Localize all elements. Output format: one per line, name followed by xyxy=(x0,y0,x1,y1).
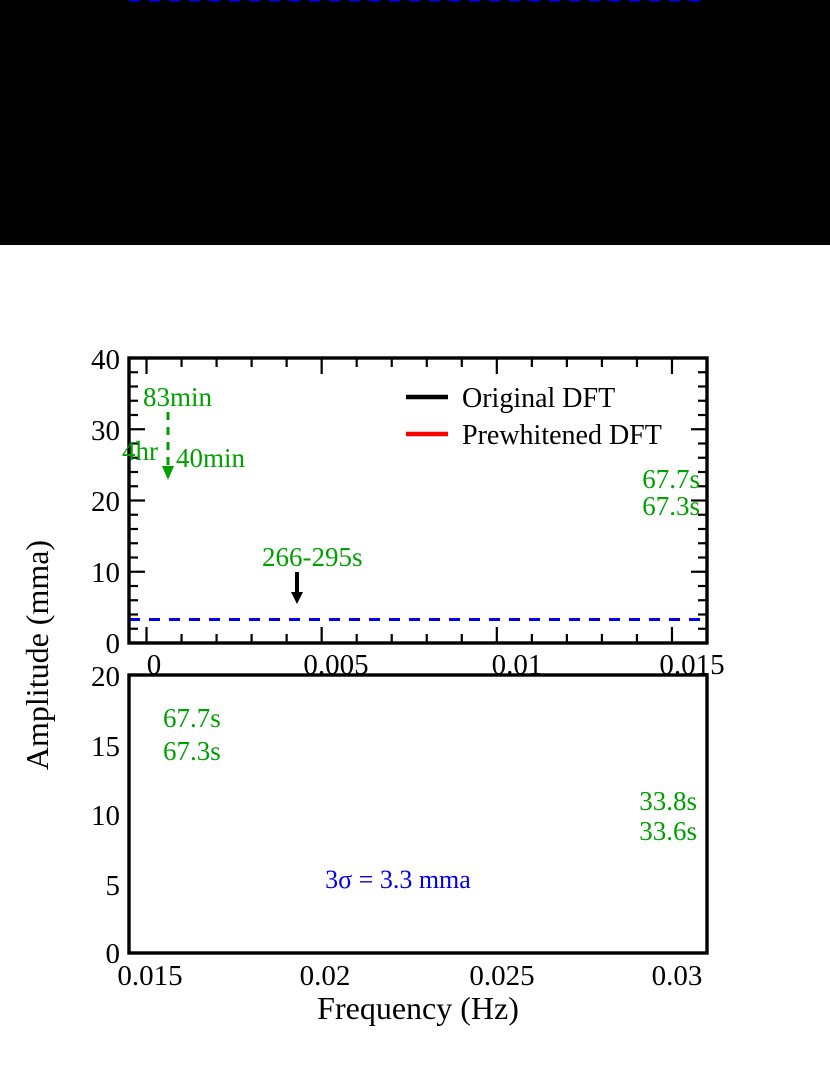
bottom-annotation-33p8s: 33.8s xyxy=(639,786,697,816)
threshold-label: 3σ = 3.3 mma xyxy=(325,865,471,894)
bottom-ytick-20: 20 xyxy=(91,661,120,693)
x-axis-label: Frequency (Hz) xyxy=(317,990,519,1026)
top-ytick-20: 20 xyxy=(91,486,120,518)
bottom-ytick-5: 5 xyxy=(106,870,121,902)
top-ytick-40: 40 xyxy=(91,344,120,376)
bottom-xtick-0p025: 0.025 xyxy=(469,960,534,992)
figure-canvas: 40 30 20 10 0 0 0.005 0.01 0.015 83min 4… xyxy=(0,0,830,1075)
annotation-40min: 40min xyxy=(176,443,246,473)
bottom-annotation-67p7s: 67.7s xyxy=(163,703,221,733)
bottom-ytick-10: 10 xyxy=(91,800,120,832)
top-ytick-10: 10 xyxy=(91,557,120,589)
bottom-xtick-0p03: 0.03 xyxy=(652,960,703,992)
annotation-4hr: 4hr xyxy=(122,436,158,466)
bottom-x-ticklabels: 0.015 0.02 0.025 0.03 xyxy=(117,960,702,992)
bottom-ytick-15: 15 xyxy=(91,731,120,763)
annotation-83min: 83min xyxy=(143,382,213,412)
bottom-xtick-0p015: 0.015 xyxy=(117,960,182,992)
top-plot-area xyxy=(129,358,707,643)
bottom-annotation-33p6s: 33.6s xyxy=(639,816,697,846)
top-ytick-30: 30 xyxy=(91,415,120,447)
bottom-xtick-0p02: 0.02 xyxy=(300,960,351,992)
top-annotation-67p7s: 67.7s xyxy=(642,464,700,494)
annotation-266-295s: 266-295s xyxy=(262,542,363,572)
dft-amplitude-spectrum-figure: 40 30 20 10 0 0 0.005 0.01 0.015 83min 4… xyxy=(0,0,830,1075)
y-axis-label: Amplitude (mma) xyxy=(19,540,55,770)
top-y-ticklabels: 40 30 20 10 0 xyxy=(91,344,120,660)
legend-label-prewhitened-dft: Prewhitened DFT xyxy=(462,420,662,451)
top-annotation-67p3s: 67.3s xyxy=(642,491,700,521)
legend-label-original-dft: Original DFT xyxy=(462,383,615,414)
bottom-y-ticklabels: 20 15 10 5 0 xyxy=(91,661,120,970)
bottom-annotation-67p3s: 67.3s xyxy=(163,736,221,766)
top-ytick-0: 0 xyxy=(106,628,121,660)
top-panel: 40 30 20 10 0 0 0.005 0.01 0.015 83min 4… xyxy=(91,344,725,681)
